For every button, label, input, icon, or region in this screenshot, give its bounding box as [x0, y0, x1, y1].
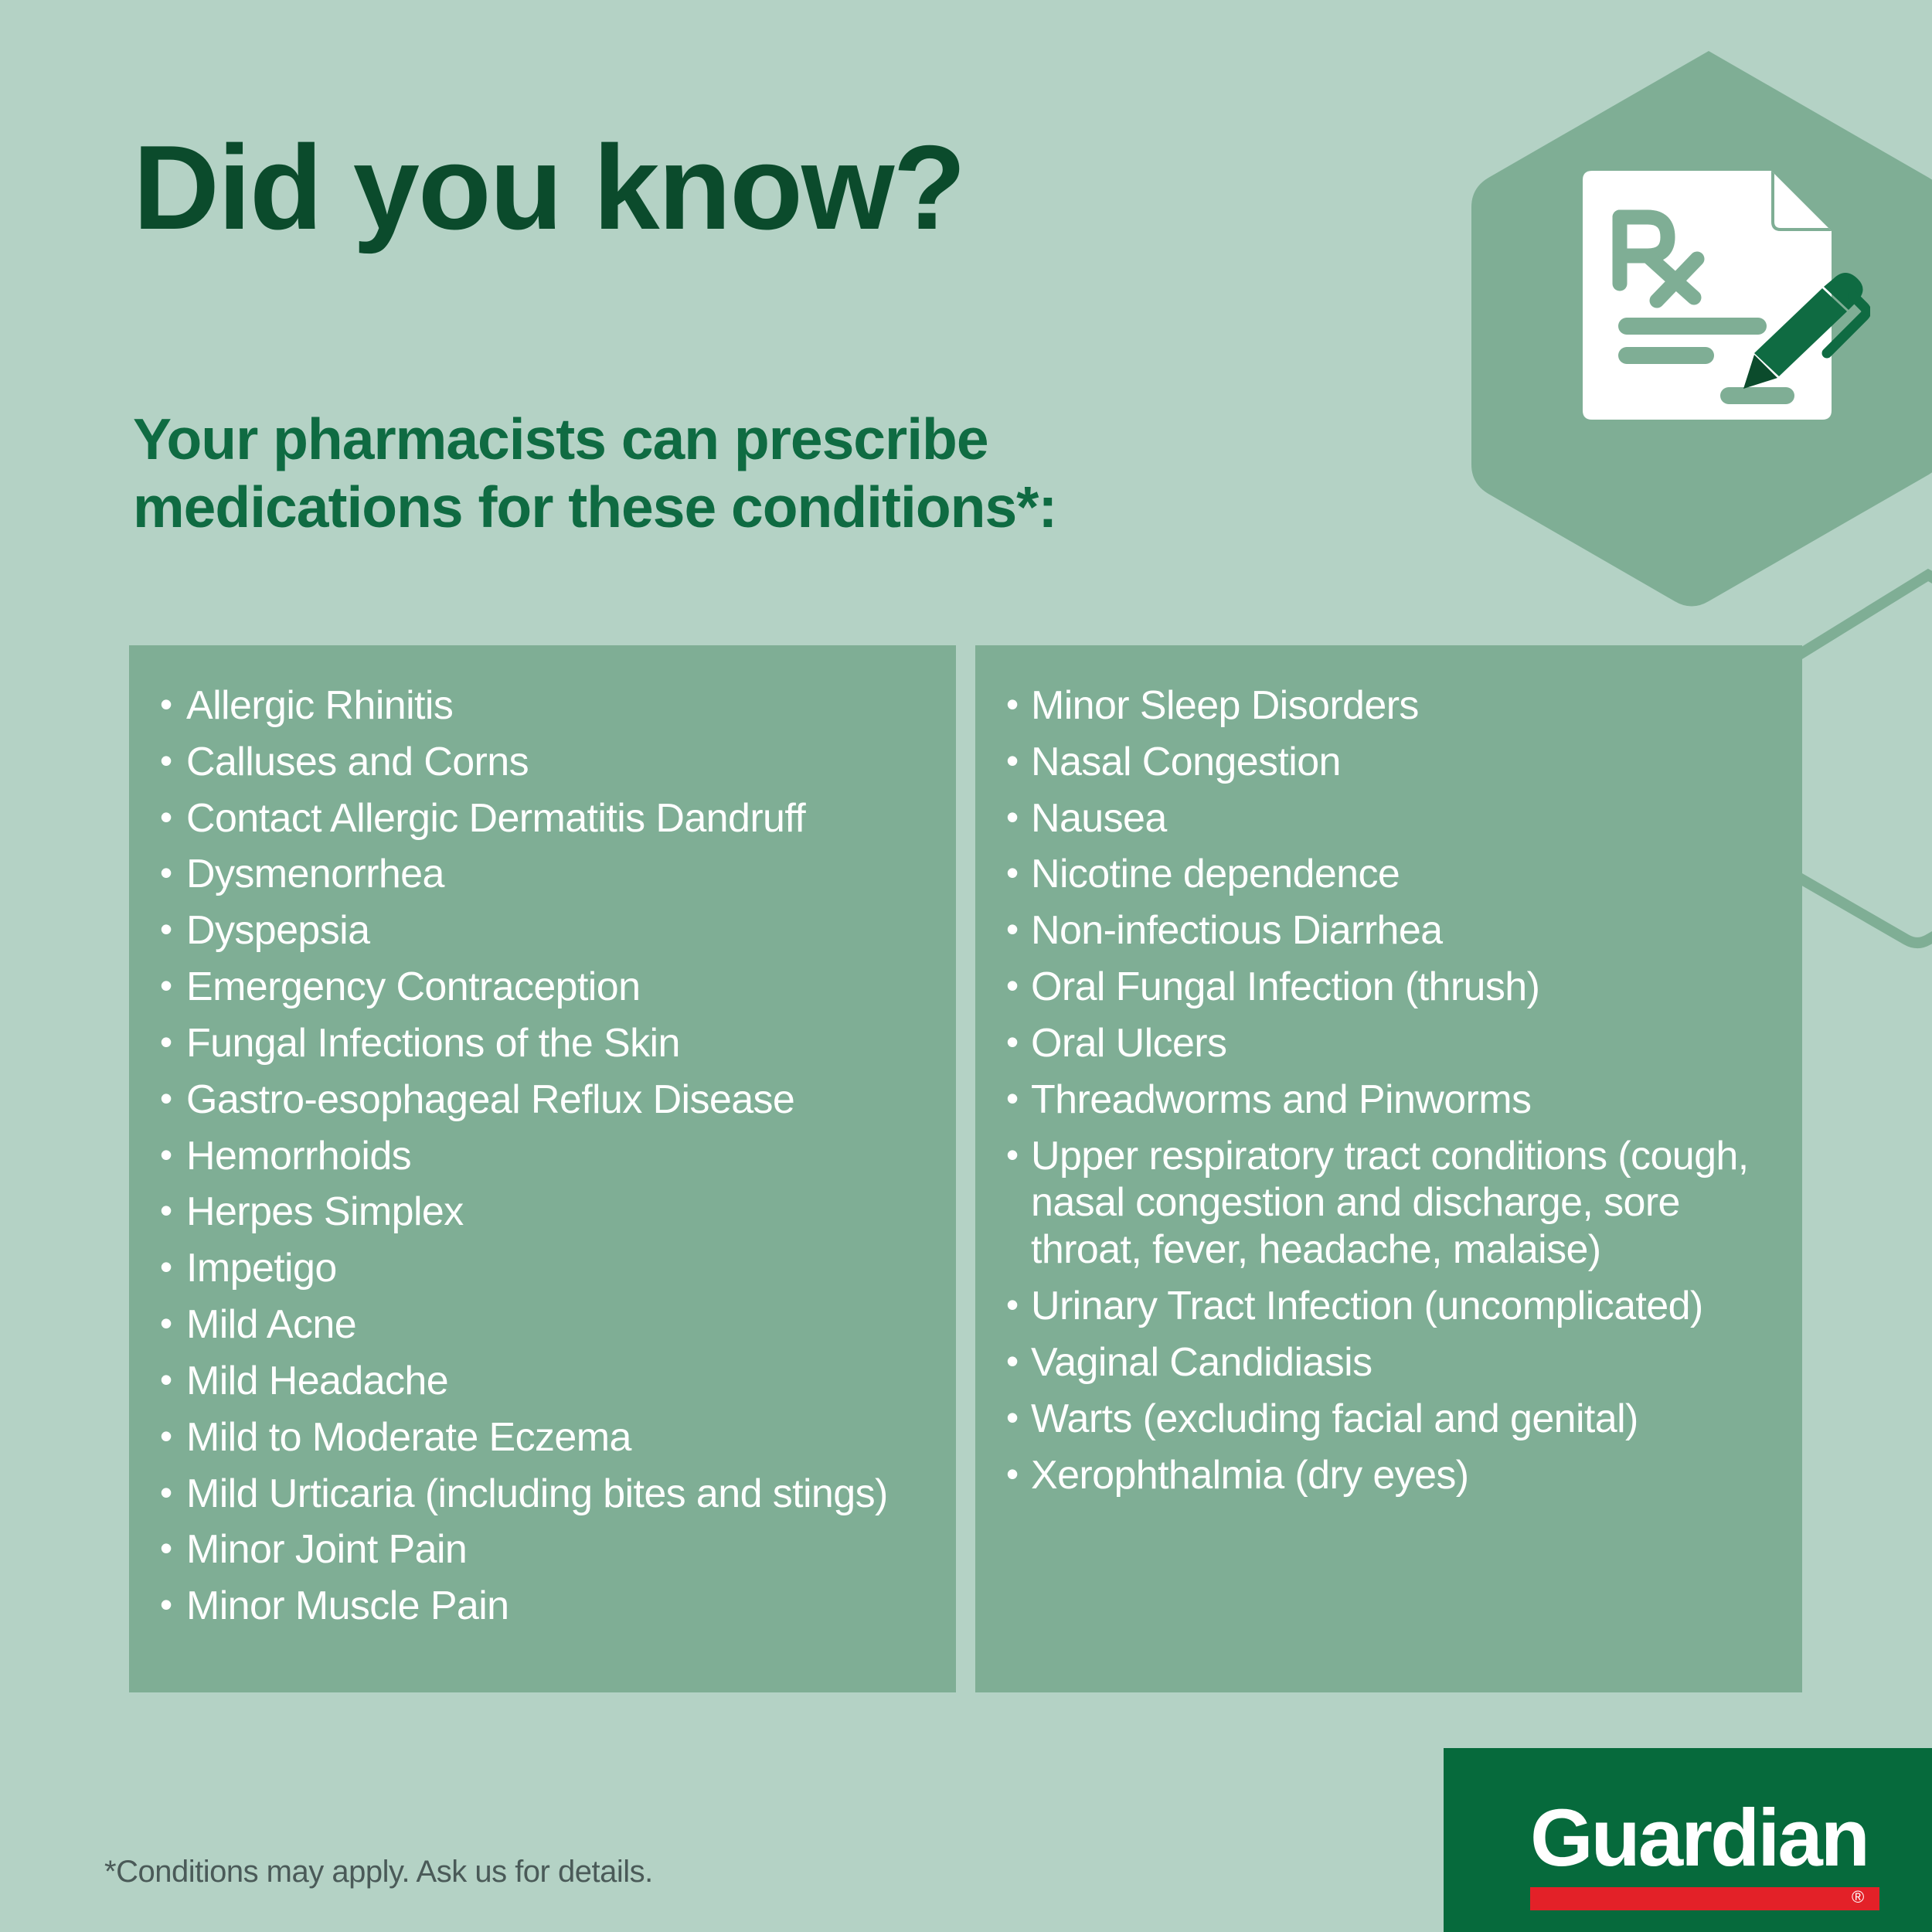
- conditions-panel-right: Minor Sleep DisordersNasal CongestionNau…: [975, 645, 1802, 1692]
- condition-list-item: Nicotine dependence: [1002, 851, 1776, 898]
- condition-list-item: Mild Headache: [155, 1358, 930, 1405]
- condition-list-item: Fungal Infections of the Skin: [155, 1020, 930, 1067]
- condition-list-item: Minor Joint Pain: [155, 1526, 930, 1573]
- subtitle: Your pharmacists can prescribe medicatio…: [133, 406, 1292, 542]
- condition-list-item: Dysmenorrhea: [155, 851, 930, 898]
- condition-list-item: Nausea: [1002, 795, 1776, 842]
- condition-list-item: Emergency Contraception: [155, 964, 930, 1011]
- guardian-logo-red-bar: [1530, 1887, 1879, 1910]
- condition-list-item: Herpes Simplex: [155, 1189, 930, 1236]
- condition-list-item: Contact Allergic Dermatitis Dandruff: [155, 795, 930, 842]
- condition-list-item: Oral Fungal Infection (thrush): [1002, 964, 1776, 1011]
- conditions-list-right: Minor Sleep DisordersNasal CongestionNau…: [1002, 682, 1776, 1498]
- condition-list-item: Calluses and Corns: [155, 739, 930, 786]
- guardian-logo: Guardian ®: [1444, 1748, 1932, 1932]
- condition-list-item: Oral Ulcers: [1002, 1020, 1776, 1067]
- condition-list-item: Warts (excluding facial and genital): [1002, 1396, 1776, 1443]
- guardian-logo-wordmark: Guardian: [1530, 1798, 1868, 1879]
- condition-list-item: Mild to Moderate Eczema: [155, 1414, 930, 1461]
- condition-list-item: Non-infectious Diarrhea: [1002, 907, 1776, 954]
- condition-list-item: Nasal Congestion: [1002, 739, 1776, 786]
- condition-list-item: Dyspepsia: [155, 907, 930, 954]
- page-title: Did you know?: [133, 128, 964, 247]
- hexagon-badge-icon: [1465, 45, 1932, 607]
- registered-trademark-icon: ®: [1852, 1889, 1864, 1906]
- condition-list-item: Impetigo: [155, 1245, 930, 1292]
- condition-list-item: Mild Acne: [155, 1301, 930, 1349]
- condition-list-item: Xerophthalmia (dry eyes): [1002, 1452, 1776, 1499]
- footnote-disclaimer: *Conditions may apply. Ask us for detail…: [104, 1855, 653, 1889]
- condition-list-item: Allergic Rhinitis: [155, 682, 930, 730]
- condition-list-item: Minor Sleep Disorders: [1002, 682, 1776, 730]
- condition-list-item: Gastro-esophageal Reflux Disease: [155, 1077, 930, 1124]
- conditions-list-left: Allergic RhinitisCalluses and CornsConta…: [155, 682, 930, 1630]
- condition-list-item: Mild Urticaria (including bites and stin…: [155, 1471, 930, 1518]
- conditions-panel-left: Allergic RhinitisCalluses and CornsConta…: [129, 645, 956, 1692]
- conditions-columns: Allergic RhinitisCalluses and CornsConta…: [129, 645, 1802, 1692]
- condition-list-item: Minor Muscle Pain: [155, 1583, 930, 1630]
- condition-list-item: Upper respiratory tract conditions (coug…: [1002, 1133, 1776, 1274]
- condition-list-item: Hemorrhoids: [155, 1133, 930, 1180]
- pen-icon: [1743, 273, 1866, 389]
- condition-list-item: Urinary Tract Infection (uncomplicated): [1002, 1283, 1776, 1330]
- rx-prescription-icon: [1577, 166, 1870, 429]
- condition-list-item: Vaginal Candidiasis: [1002, 1339, 1776, 1386]
- condition-list-item: Threadworms and Pinworms: [1002, 1077, 1776, 1124]
